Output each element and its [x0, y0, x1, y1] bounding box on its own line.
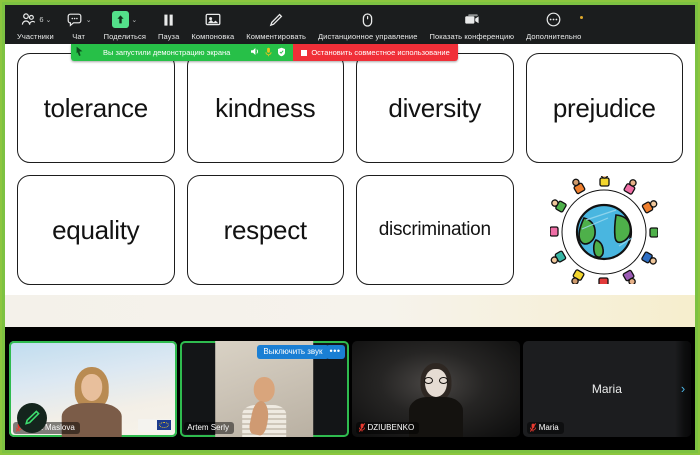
toolbar-label: Комментировать — [246, 32, 306, 41]
participant-name-label: DZIUBENKO — [356, 422, 420, 434]
globe-children-illustration — [526, 175, 684, 285]
pencil-annotate-icon — [267, 11, 285, 28]
share-toolbar: 6 ⌄ Участники ⌄ — [5, 5, 695, 44]
sharing-status-icons — [250, 47, 286, 59]
toolbar-label: Дистанционное управление — [318, 32, 417, 41]
pause-icon — [160, 11, 178, 28]
toolbar-label: Компоновка — [191, 32, 234, 41]
participant-tile[interactable]: Alina Maslova — [9, 341, 177, 437]
chevron-down-icon[interactable]: ⌄ — [131, 17, 137, 24]
word-card-label: equality — [52, 215, 139, 246]
word-card[interactable]: equality — [17, 175, 175, 285]
word-card-label: respect — [224, 215, 307, 246]
mute-button[interactable]: Выключить звук — [257, 345, 328, 359]
pencil-annotate-icon — [24, 409, 41, 426]
toolbar-item-layout[interactable]: Компоновка — [185, 7, 240, 44]
participant-tile[interactable]: Выключить звук ••• Artem Serly — [180, 341, 348, 437]
stop-square-icon — [301, 50, 307, 56]
word-card[interactable]: respect — [187, 175, 345, 285]
screen-share-green-frame: tolerance kindness diversity prejudice e… — [2, 2, 698, 453]
head-shape — [254, 377, 275, 402]
participant-tile[interactable]: Maria Maria › — [523, 341, 691, 437]
share-screen-icon[interactable] — [112, 11, 129, 28]
annotate-indicator-button[interactable] — [17, 403, 47, 433]
notification-dot — [580, 16, 583, 19]
word-card-grid: tolerance kindness diversity prejudice e… — [5, 53, 695, 285]
toolbar-label: Чат — [72, 32, 85, 41]
participant-name-text: Maria — [539, 423, 559, 432]
participant-filmstrip: Alina Maslova Выключить звук ••• Artem S… — [5, 327, 695, 450]
sharing-status-green: Вы запустили демонстрацию экрана — [71, 44, 293, 61]
participants-icon — [19, 11, 37, 28]
stop-sharing-label: Остановить совместное использование — [311, 48, 449, 57]
speaker-icon[interactable] — [250, 47, 260, 58]
next-page-chevron-icon[interactable]: › — [675, 341, 691, 437]
toolbar-item-chat[interactable]: ⌄ Чат — [60, 7, 98, 44]
participant-name-label: Artem Serly — [184, 422, 234, 434]
toolbar-item-annotate[interactable]: Комментировать — [240, 7, 312, 44]
glasses-shape — [424, 377, 448, 384]
chevron-down-icon[interactable]: ⌄ — [86, 17, 92, 24]
toolbar-label: Пауза — [158, 32, 179, 41]
word-card[interactable]: prejudice — [526, 53, 684, 163]
globe-children-icon — [550, 176, 658, 284]
chevron-down-icon[interactable]: ⌄ — [46, 17, 52, 24]
toolbar-label: Дополнительно — [526, 32, 581, 41]
participant-name-label: Maria — [527, 422, 564, 434]
word-card-label: kindness — [215, 93, 315, 124]
toolbar-item-share[interactable]: ⌄ Поделиться — [98, 7, 152, 44]
participant-name-text: DZIUBENKO — [368, 423, 415, 432]
slide-bottom-band — [5, 295, 695, 327]
eu-logo-overlay — [138, 419, 172, 432]
toolbar-item-show-meeting[interactable]: Показать конференцию — [423, 7, 520, 44]
toolbar-label: Поделиться — [104, 32, 146, 41]
face-shape — [81, 374, 102, 401]
toolbar-item-remote-control[interactable]: Дистанционное управление — [312, 7, 423, 44]
eu-flag-icon — [157, 420, 171, 430]
toolbar-item-participants[interactable]: 6 ⌄ Участники — [11, 7, 60, 44]
participant-tile[interactable]: DZIUBENKO — [352, 341, 520, 437]
toolbar-label: Участники — [17, 32, 54, 41]
chat-icon — [66, 11, 84, 28]
toolbar-label: Показать конференцию — [429, 32, 514, 41]
show-meeting-icon — [463, 11, 481, 28]
sharing-status-bar: Вы запустили демонстрацию экрана Останов… — [71, 44, 458, 61]
tile-more-options-button[interactable]: ••• — [326, 345, 345, 359]
stop-sharing-button[interactable]: Остановить совместное использование — [293, 44, 457, 61]
word-card-label: tolerance — [44, 93, 148, 124]
screen-share-window: tolerance kindness diversity prejudice e… — [0, 0, 700, 455]
layout-icon — [204, 11, 222, 28]
word-card-label: prejudice — [553, 93, 656, 124]
more-ellipsis-icon — [545, 11, 563, 28]
mic-muted-icon — [359, 423, 365, 432]
participants-count: 6 — [39, 15, 43, 24]
word-card[interactable]: discrimination — [356, 175, 514, 285]
remote-control-icon — [359, 11, 377, 28]
person-shape — [241, 375, 287, 437]
sharing-cursor-icon — [76, 46, 83, 59]
participant-name-text: Artem Serly — [187, 423, 229, 432]
word-card[interactable]: diversity — [356, 53, 514, 163]
mic-muted-icon — [530, 423, 536, 432]
shield-icon[interactable] — [277, 47, 286, 59]
word-card-label: diversity — [388, 93, 481, 124]
toolbar-item-more[interactable]: Дополнительно — [520, 7, 587, 44]
toolbar-item-pause[interactable]: Пауза — [152, 7, 185, 44]
word-card[interactable]: tolerance — [17, 53, 175, 163]
microphone-icon[interactable] — [265, 47, 272, 59]
word-card[interactable]: kindness — [187, 53, 345, 163]
sharing-status-text: Вы запустили демонстрацию экрана — [89, 48, 244, 57]
word-card-label: discrimination — [379, 219, 491, 241]
